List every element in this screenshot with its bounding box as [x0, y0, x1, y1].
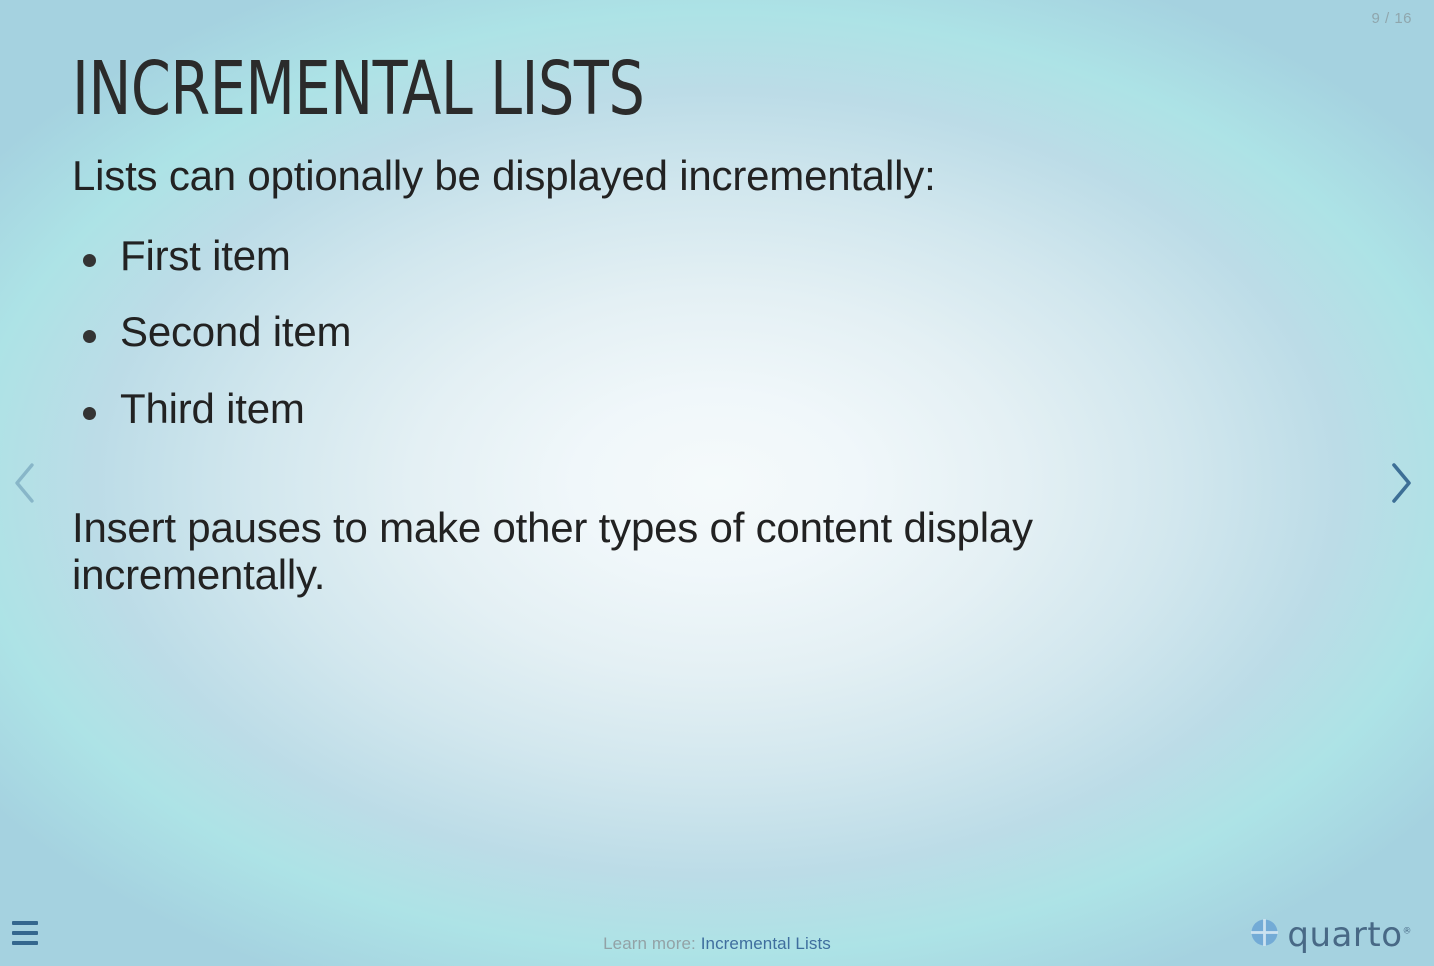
chevron-right-icon: [1389, 461, 1415, 505]
menu-bar-top: [12, 921, 38, 925]
quarto-wordmark-text: quarto: [1287, 915, 1402, 955]
quarto-logo[interactable]: quarto®: [1251, 918, 1412, 952]
list-item: First item: [72, 233, 1362, 278]
presentation-slide: 9 / 16 Incremental Lists Lists can optio…: [0, 0, 1434, 966]
incremental-list: First item Second item Third item: [72, 233, 1362, 431]
footer-learn-more-link[interactable]: Incremental Lists: [701, 934, 831, 953]
closing-paragraph: Insert pauses to make other types of con…: [72, 504, 1297, 598]
intro-paragraph: Lists can optionally be displayed increm…: [72, 152, 1362, 199]
quarto-wordmark: quarto®: [1287, 918, 1412, 952]
quarto-circle-icon: [1251, 919, 1278, 951]
footer-note: Learn more: Incremental Lists: [0, 933, 1434, 955]
page-title: Incremental Lists: [72, 52, 1181, 126]
prev-slide-button[interactable]: [2, 452, 46, 514]
list-item: Second item: [72, 309, 1362, 354]
quarto-trademark: ®: [1403, 927, 1413, 937]
list-item-label: Second item: [120, 308, 351, 355]
list-item-label: First item: [120, 232, 291, 279]
next-slide-button[interactable]: [1380, 452, 1424, 514]
list-item: Third item: [72, 386, 1362, 431]
slide-content: Incremental Lists Lists can optionally b…: [72, 52, 1362, 598]
footer-note-prefix: Learn more:: [603, 934, 701, 953]
list-item-label: Third item: [120, 385, 305, 432]
chevron-left-icon: [11, 461, 37, 505]
slide-counter: 9 / 16: [1371, 10, 1412, 27]
